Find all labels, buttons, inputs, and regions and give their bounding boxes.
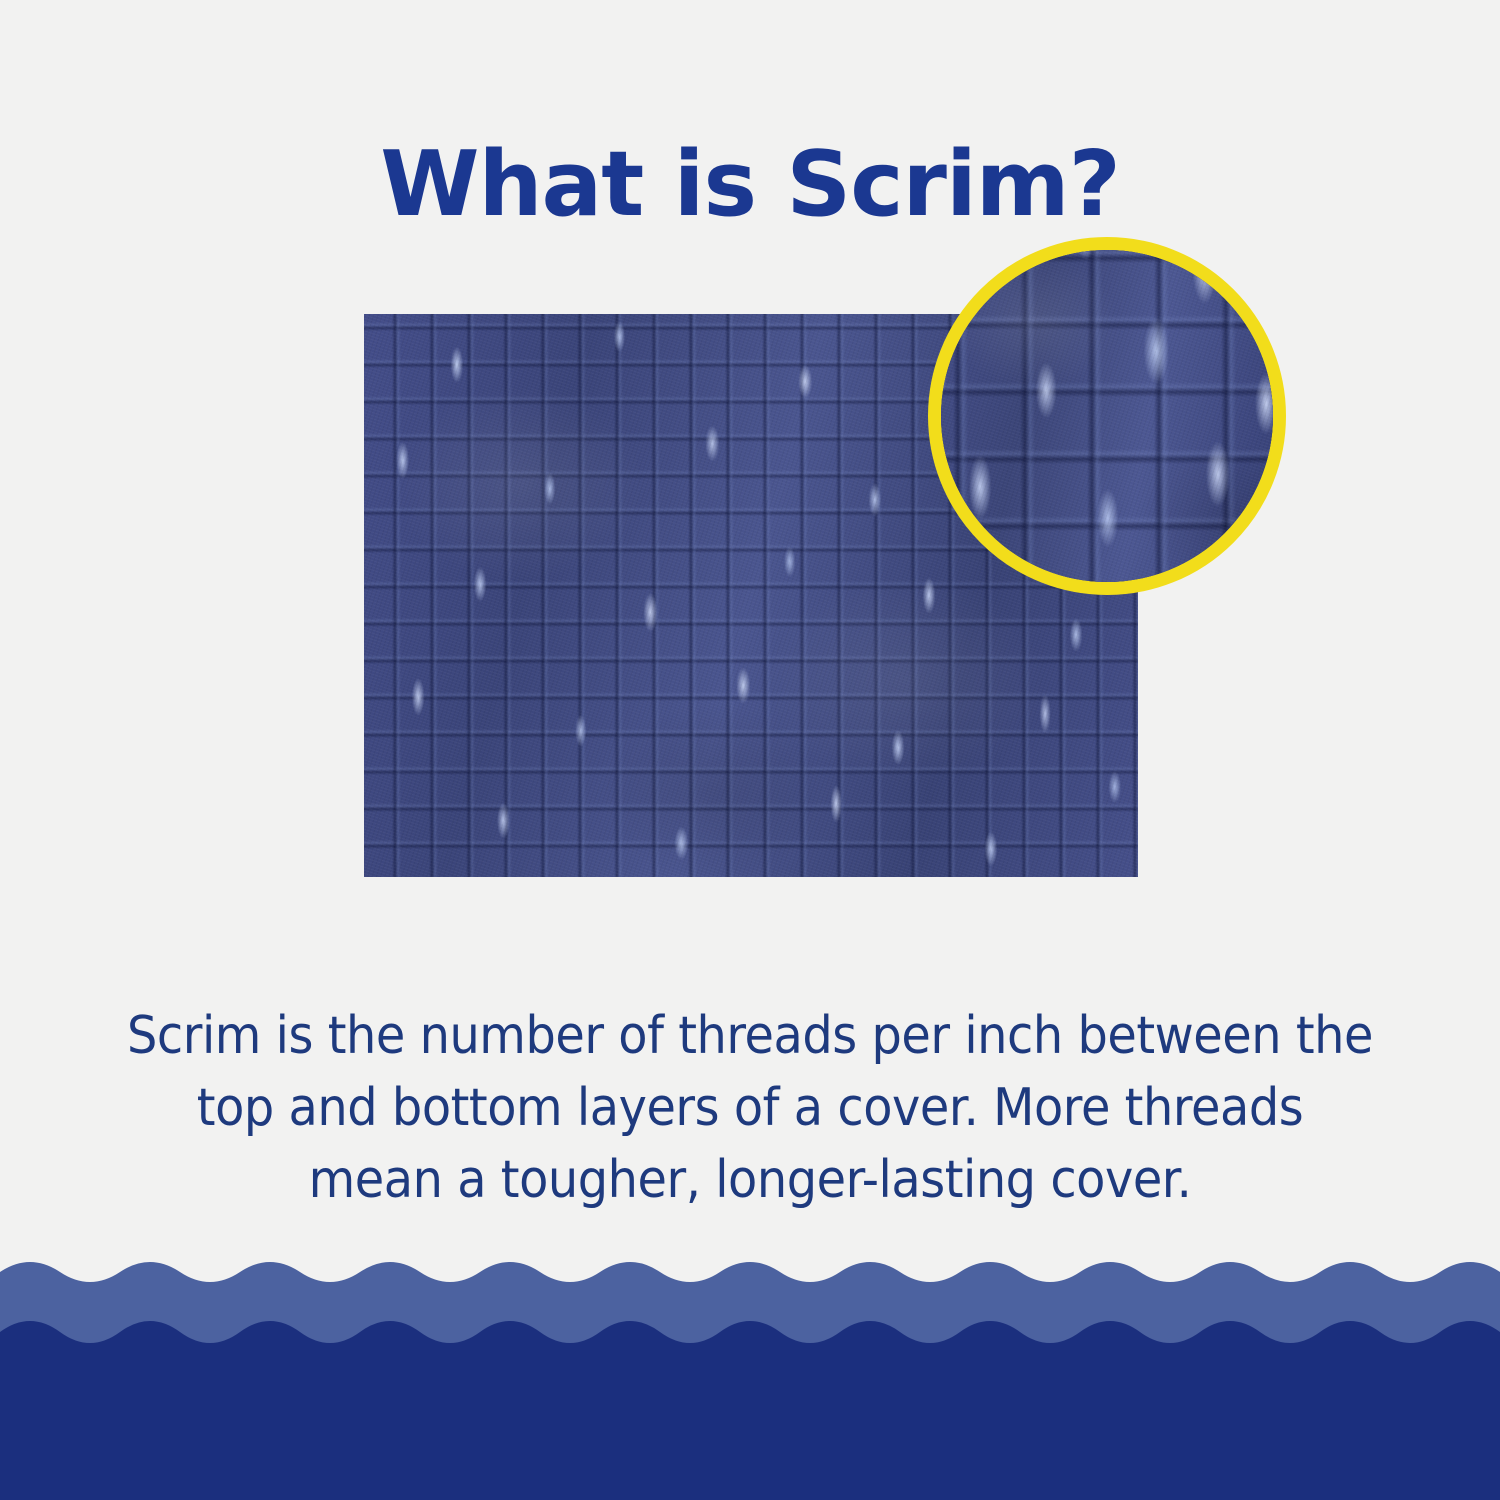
page-title: What is Scrim? bbox=[0, 138, 1500, 233]
wave-dark-layer bbox=[0, 1321, 1500, 1500]
infographic-canvas: What is Scrim? Scrim is the number of th… bbox=[0, 0, 1500, 1500]
magnified-weave-circle bbox=[928, 237, 1286, 595]
description-paragraph: Scrim is the number of threads per inch … bbox=[124, 1000, 1375, 1216]
wave-decoration bbox=[0, 1220, 1500, 1500]
fabric-weave-texture-zoomed bbox=[928, 237, 1286, 595]
magnifier-content bbox=[928, 237, 1286, 595]
